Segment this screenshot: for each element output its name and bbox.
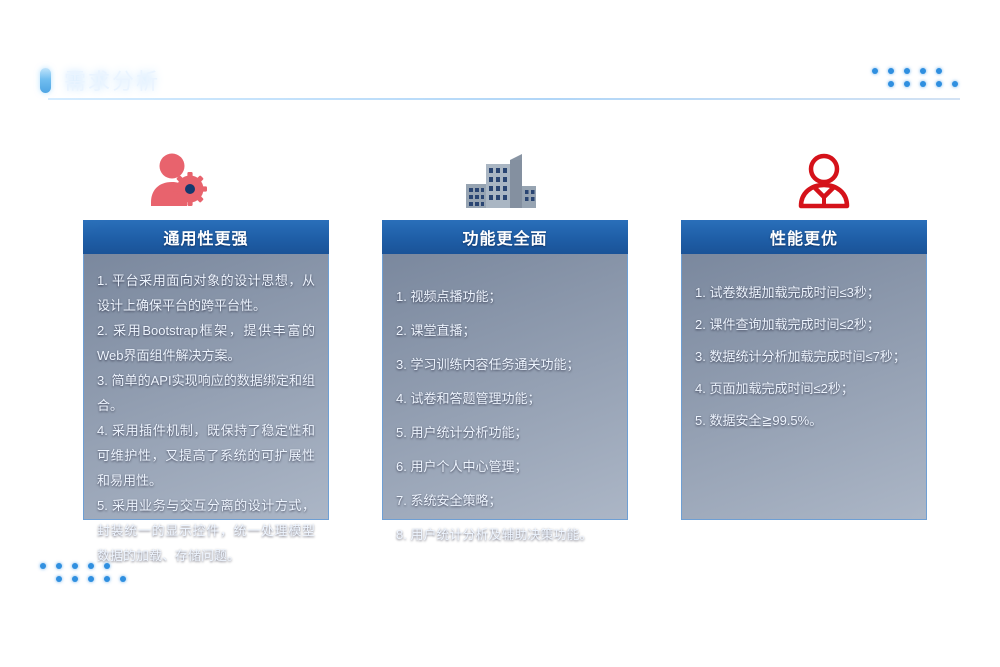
list-item: 3. 数据统计分析加载完成时间≤7秒；: [695, 344, 913, 369]
dot-row: [872, 68, 958, 74]
card-title: 性能更优: [681, 220, 927, 254]
card-title: 通用性更强: [83, 220, 329, 254]
dot: [904, 81, 910, 87]
card-generality[interactable]: 通用性更强 1. 平台采用面向对象的设计思想，从设计上确保平台的跨平台性。 2.…: [83, 220, 329, 520]
icon-cell-3: [662, 148, 985, 210]
list-item: 4. 采用插件机制，既保持了稳定性和可维护性，又提高了系统的可扩展性和易用性。: [97, 418, 315, 493]
dot: [872, 81, 878, 87]
list-item: 5. 用户统计分析功能；: [396, 420, 614, 445]
page-title: 需求分析: [40, 64, 160, 96]
dot: [40, 563, 46, 569]
list-item: 2. 采用Bootstrap框架，提供丰富的Web界面组件解决方案。: [97, 318, 315, 368]
list-item: 1. 视频点播功能；: [396, 284, 614, 309]
dot: [56, 576, 62, 582]
dot-row: [40, 563, 126, 569]
cards-row: 通用性更强 1. 平台采用面向对象的设计思想，从设计上确保平台的跨平台性。 2.…: [83, 220, 928, 520]
dot-row: [40, 576, 126, 582]
list-item: 4. 页面加载完成时间≤2秒；: [695, 376, 913, 401]
dot: [72, 576, 78, 582]
list-item: 7. 系统安全策略；: [396, 488, 614, 513]
list-item: 1. 平台采用面向对象的设计思想，从设计上确保平台的跨平台性。: [97, 268, 315, 318]
list-item: 3. 简单的API实现响应的数据绑定和组合。: [97, 368, 315, 418]
list-item: 2. 课件查询加载完成时间≤2秒；: [695, 312, 913, 337]
dot: [936, 68, 942, 74]
list-item: 1. 试卷数据加载完成时间≤3秒；: [695, 280, 913, 305]
decorative-dots-top-right: [872, 68, 958, 87]
card-features[interactable]: 功能更全面 1. 视频点播功能； 2. 课堂直播； 3. 学习训练内容任务通关功…: [382, 220, 628, 520]
dot: [920, 81, 926, 87]
dot: [104, 563, 110, 569]
card-title: 功能更全面: [382, 220, 628, 254]
user-outline-icon: [793, 152, 855, 210]
dot: [56, 563, 62, 569]
dot: [872, 68, 878, 74]
dot: [888, 68, 894, 74]
dot: [936, 81, 942, 87]
title-divider: [48, 98, 960, 100]
list-item: 5. 采用业务与交互分离的设计方式，封装统一的显示控件，统一处理模型数据的加载、…: [97, 493, 315, 568]
list-item: 4. 试卷和答题管理功能；: [396, 386, 614, 411]
list-item: 6. 用户个人中心管理；: [396, 454, 614, 479]
slide-header: 需求分析: [17, 38, 985, 100]
dot-row: [872, 81, 958, 87]
card-body: 1. 试卷数据加载完成时间≤3秒； 2. 课件查询加载完成时间≤2秒； 3. 数…: [681, 254, 927, 520]
dot: [920, 68, 926, 74]
icons-row: [17, 148, 985, 210]
dot: [904, 68, 910, 74]
dot: [104, 576, 110, 582]
dot: [952, 68, 958, 74]
list-item: 8. 用户统计分析及辅助决策功能。: [396, 522, 614, 547]
card-body: 1. 视频点播功能； 2. 课堂直播； 3. 学习训练内容任务通关功能； 4. …: [382, 254, 628, 520]
title-pill-icon: [40, 68, 51, 93]
slide-canvas: 需求分析: [17, 38, 985, 625]
card-performance[interactable]: 性能更优 1. 试卷数据加载完成时间≤3秒； 2. 课件查询加载完成时间≤2秒；…: [681, 220, 927, 520]
dot: [88, 576, 94, 582]
user-gear-icon: [147, 152, 209, 210]
dot: [40, 576, 46, 582]
card-body: 1. 平台采用面向对象的设计思想，从设计上确保平台的跨平台性。 2. 采用Boo…: [83, 254, 329, 520]
dot: [888, 81, 894, 87]
list-item: 2. 课堂直播；: [396, 318, 614, 343]
dot: [120, 563, 126, 569]
list-item: 5. 数据安全≧99.5%。: [695, 408, 913, 433]
dot: [952, 81, 958, 87]
title-label: 需求分析: [64, 64, 160, 96]
dot: [88, 563, 94, 569]
icon-cell-1: [17, 148, 340, 210]
list-item: 3. 学习训练内容任务通关功能；: [396, 352, 614, 377]
icon-cell-2: [340, 148, 663, 210]
office-buildings-icon: [464, 152, 538, 210]
decorative-dots-bottom-left: [40, 563, 126, 582]
dot: [72, 563, 78, 569]
dot: [120, 576, 126, 582]
